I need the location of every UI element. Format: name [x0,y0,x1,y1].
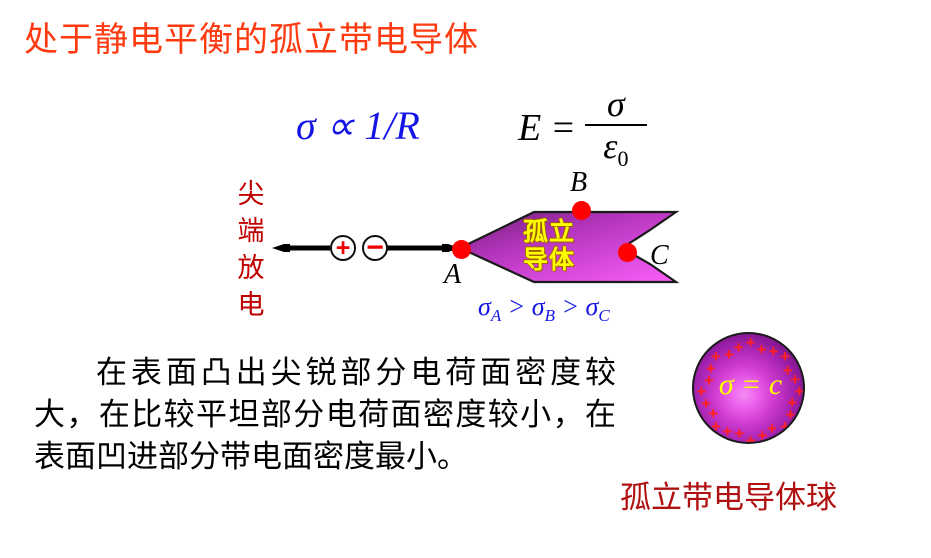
sigma-a: σA [478,292,501,321]
sphere-plus-charge-icon: + [768,343,780,355]
sphere-plus-charge-icon: + [710,348,722,360]
point-discharge-caption: 尖 端 放 电 [232,176,270,324]
charged-sphere: σ = c ++++++++++++++++++++++++ [692,332,805,444]
discharge-char-1: 尖 [232,176,270,213]
point-b-label: B [570,167,587,199]
formula-denominator-epsilon: ε0 [603,126,628,170]
formula-numerator-sigma: σ [597,86,635,124]
conductor-label-line-2: 导体 [512,246,586,274]
page-title: 处于静电平衡的孤立带电导体 [24,12,479,61]
inequality-op-2: > [561,292,579,321]
sphere-plus-charge-icon: + [756,341,768,353]
sphere-caption: 孤立带电导体球 [620,472,837,517]
sphere-plus-charge-icon: + [733,339,745,351]
point-c-label: C [650,240,669,272]
formula-sigma-proportional-r: σ ∝ 1/R [296,102,420,149]
discharge-char-4: 电 [232,287,270,324]
sphere-plus-charge-icon: + [756,427,768,439]
conductor-label: 孤立 导体 [512,218,586,274]
point-c-dot [618,243,637,262]
sphere-plus-charge-icon: + [745,432,757,444]
formula-e-equals-sigma-over-epsilon0: E = σ ε0 [518,86,647,170]
sigma-c: σC [586,292,610,321]
discharge-char-2: 端 [232,213,270,250]
formula-equals-sign: = [550,106,576,150]
body-paragraph: 在表面凸出尖锐部分电荷面密度较大，在比较平坦部分电荷面密度较小，在表面凹进部分带… [34,352,616,478]
discharge-char-3: 放 [232,250,270,287]
formula-e-symbol: E [518,106,541,150]
sphere-plus-charge-icon: + [733,425,745,437]
point-a-label: A [444,259,461,291]
point-b-dot [572,201,591,220]
conductor-label-line-1: 孤立 [512,218,586,246]
point-a-dot [452,240,471,259]
sphere-plus-charge-icon: + [722,423,734,435]
arrow-right-icon [382,244,460,252]
arrow-left-icon [272,244,330,252]
sigma-b: σB [532,292,555,321]
formula-fraction: σ ε0 [585,86,647,170]
positive-charge-icon: + [330,235,356,261]
formula-denominator-subscript: 0 [617,146,628,171]
slide-canvas: 处于静电平衡的孤立带电导体 σ ∝ 1/R E = σ ε0 尖 端 放 电 +… [0,0,931,558]
sphere-plus-charge-icon: + [779,418,791,430]
sphere-plus-charge-icon: + [779,348,791,360]
negative-charge-icon: − [362,235,388,261]
sigma-inequality: σA > σB > σC [478,292,610,326]
inequality-op-1: > [508,292,526,321]
